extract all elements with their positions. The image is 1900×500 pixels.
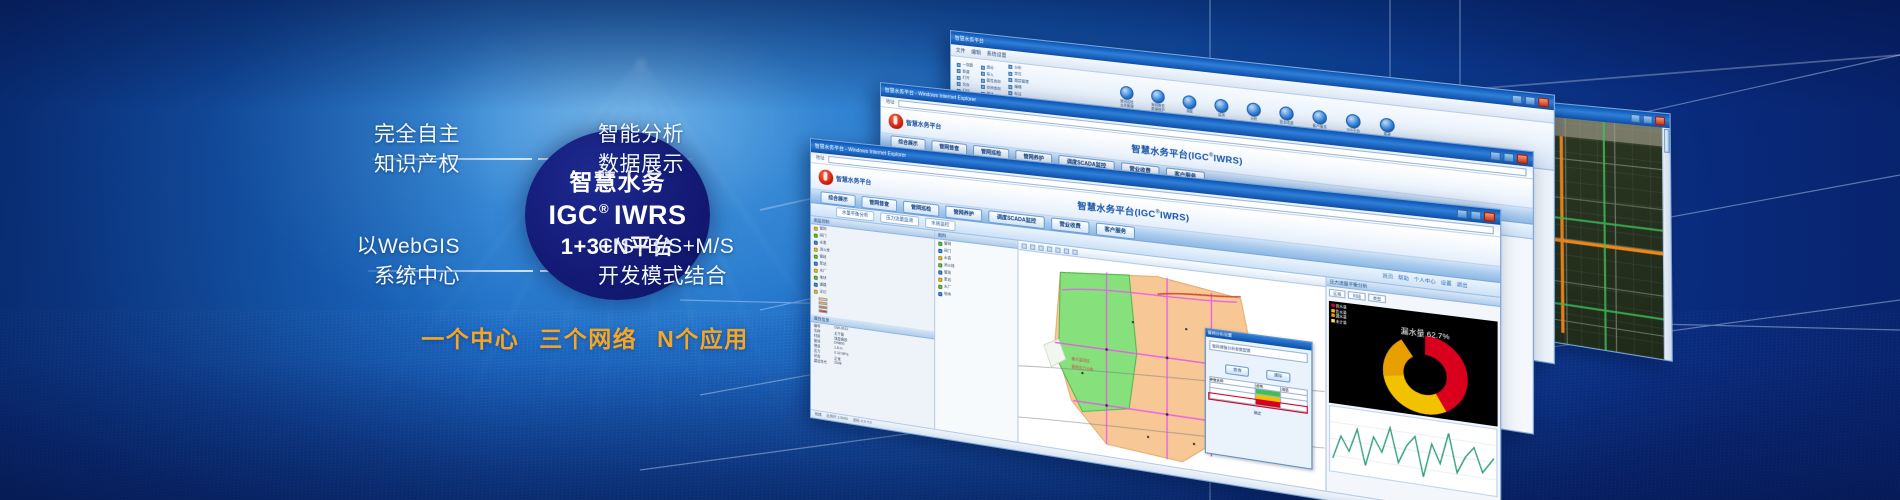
catalog-swatch-icon (938, 262, 942, 267)
minimize-icon[interactable] (1512, 94, 1523, 104)
tagline-part2: 三个网络 (539, 326, 637, 352)
catalog-panel[interactable]: 图例 管网阀门水表消火栓管段泵站水厂地块 (935, 231, 1019, 450)
module-icon (1183, 94, 1197, 109)
status-item[interactable]: 比例尺 1:5000 (826, 414, 848, 422)
ribbon-big-button[interactable]: 管网巡检 业务管理 (1116, 85, 1139, 109)
ribbon-big-button[interactable]: 调度 (1178, 94, 1201, 115)
maximize-icon[interactable] (1525, 95, 1536, 105)
layer-swatch-icon (814, 282, 818, 287)
spoke-label-line1: 以WebGIS (357, 235, 460, 258)
catalog-tree-item-label: 地块 (944, 291, 951, 297)
registered-mark-icon: ® (1209, 152, 1213, 159)
brand-igc: IGC (548, 201, 598, 231)
close-icon[interactable] (1655, 116, 1665, 126)
layer-swatch-icon (814, 233, 818, 237)
layer-swatch-icon (814, 289, 818, 294)
layer-tree-item-label: 水厂 (820, 268, 827, 274)
spoke-label-line1: C/S+B/S+M/S (598, 235, 734, 258)
module-icon (1247, 102, 1261, 117)
command-icon (981, 72, 985, 76)
map-tool-放大[interactable] (1022, 243, 1027, 249)
command-icon (957, 75, 961, 79)
ribbon-command-label: 分析 (1014, 65, 1021, 71)
menu-item[interactable]: 文件 (956, 47, 966, 55)
close-icon[interactable] (1517, 153, 1528, 163)
spoke-label-bottom-left: 以WebGIS 系统中心 (290, 232, 460, 292)
module-icon (1346, 113, 1361, 129)
subnav-item[interactable]: 水质监控 (925, 217, 955, 231)
command-icon (1009, 85, 1013, 90)
ribbon-command-label: 打开 (963, 75, 970, 81)
minimize-icon[interactable] (1630, 113, 1640, 123)
catalog-swatch-icon (938, 277, 942, 282)
legend-color-swatch (1331, 313, 1335, 317)
tagline-part1: 一个中心 (421, 326, 519, 352)
analytics-filter[interactable]: 类型 (1368, 293, 1386, 303)
window-controls[interactable] (1512, 94, 1549, 107)
utility-link[interactable]: 个人中心 (1414, 276, 1436, 285)
module-icon (1312, 109, 1326, 125)
module-icon (1380, 117, 1395, 133)
dialog-query-button[interactable]: 查询 (1225, 364, 1249, 377)
map-tool-全图[interactable] (1047, 246, 1052, 252)
map-tool-缩小[interactable] (1030, 244, 1035, 250)
attribute-value: 2008 (834, 361, 841, 367)
donut-legend-label: 未计量 (1336, 319, 1347, 325)
spoke-label-top-left: 完全自主 知识产权 (300, 120, 460, 180)
legend-color-swatch (1331, 318, 1335, 322)
spoke-label-line1: 智能分析 (598, 123, 684, 146)
ribbon-command-label: 另存 (963, 82, 970, 88)
analytics-filter[interactable]: 时段 (1348, 291, 1366, 301)
catalog-swatch-icon (938, 270, 942, 275)
catalog-tree-item-label: 管段 (944, 270, 951, 276)
map-tool-选择[interactable] (1056, 247, 1061, 253)
catalog-tree[interactable]: 管网阀门水表消火栓管段泵站水厂地块 (935, 239, 1018, 307)
window-controls[interactable] (1457, 208, 1495, 221)
app-title-suffix: IWRS) (1213, 152, 1242, 166)
layer-tree-item-label: 道路 (820, 282, 827, 288)
catalog-swatch-icon (938, 241, 942, 246)
brand-circle-line2: IGC®IWRS (548, 201, 686, 231)
catalog-swatch-icon (938, 255, 942, 260)
catalog-swatch-icon (938, 291, 942, 296)
legend-color-swatch (1331, 308, 1335, 312)
app-title-text: 智慧水务平台(IGC (1180, 40, 1257, 59)
catalog-tree-item-label: 水表 (944, 256, 951, 262)
logo-text: 智慧水务平台 (906, 118, 941, 131)
app-title-suffix: IWRS) (1262, 48, 1291, 62)
analytics-filter[interactable]: 区域 (1328, 289, 1345, 299)
command-icon (1009, 71, 1013, 76)
utility-link[interactable]: 退出 (1457, 281, 1468, 289)
donut-legend: 供水量售水量漏水量未计量 (1331, 303, 1347, 325)
command-icon (981, 78, 985, 82)
catalog-tree-item-label: 阀门 (944, 248, 951, 254)
maximize-icon[interactable] (1503, 152, 1514, 162)
ribbon-command-label: 空间查询 (987, 85, 1001, 92)
layer-swatch-icon (814, 268, 818, 273)
registered-mark-icon: ® (599, 202, 609, 216)
ribbon-command-label: 编辑 (1014, 85, 1021, 91)
address-label: 地址 (816, 155, 825, 162)
layer-tree-item-label: 水表 (820, 240, 827, 246)
spoke-label-line1: 完全自主 (374, 123, 460, 146)
concept-diagram: 完全自主 知识产权 以WebGIS 系统中心 智能分析 数据展示 C/S+B/S… (0, 0, 820, 500)
catalog-swatch-icon (938, 284, 942, 289)
catalog-swatch-icon (938, 248, 942, 253)
brand-iwrs: IWRS (614, 201, 687, 231)
ribbon-command-label: 属性查询 (987, 78, 1001, 85)
layer-tree-item-label: 地块 (820, 275, 827, 281)
company-logo-icon (819, 169, 834, 186)
hero-banner: 完全自主 知识产权 以WebGIS 系统中心 智能分析 数据展示 C/S+B/S… (0, 0, 1900, 500)
registered-mark-icon: ® (1257, 48, 1261, 55)
ribbon-command-label: 定位 (1014, 72, 1021, 78)
layer-tree-item-label: 管段 (820, 254, 827, 260)
catalog-tree-item-label: 水厂 (944, 284, 951, 290)
minimize-icon[interactable] (1457, 208, 1468, 218)
app-title-text: 智慧水务平台(IGC (1077, 200, 1155, 219)
layer-tree-item-label: 阀门 (820, 233, 827, 239)
analytics-panel: 压力流量平衡分析 区域时段类型 供水量售水量漏水量未计量 漏水量 62.7% (1325, 277, 1500, 500)
minimize-icon[interactable] (1490, 150, 1501, 160)
maximize-icon[interactable] (1470, 210, 1481, 220)
command-icon (981, 85, 985, 89)
window-title-text: 智慧水务平台 (955, 35, 984, 45)
menu-item[interactable]: 系统设置 (987, 50, 1007, 59)
app-title-text: 智慧水务平台(IGC (1131, 143, 1209, 162)
app-title-suffix: IWRS) (1160, 209, 1189, 223)
ribbon-command-label: 退出 (987, 65, 994, 71)
map-tool-平移[interactable] (1039, 245, 1044, 251)
command-icon (981, 65, 985, 69)
catalog-tree-item-label: 泵站 (944, 277, 951, 283)
spoke-label-line2: 系统中心 (290, 262, 460, 292)
analysis-dialog[interactable]: 管网分析设置 管网爆管分析参数配置 查询 清除 参数名称 颜色 (1204, 328, 1312, 470)
product-screenshot-stack: 管网定位 (780, 0, 1900, 500)
spoke-label-line2: 开发模式结合 (598, 262, 734, 292)
layer-tree-item-label: 注记 (820, 289, 827, 295)
menu-item[interactable]: 编辑 (971, 48, 981, 56)
tagline-part3: N个应用 (657, 326, 749, 352)
spoke-label-bottom-right: C/S+B/S+M/S 开发模式结合 (598, 232, 734, 292)
registered-mark-icon: ® (1156, 208, 1160, 215)
module-icon (1215, 98, 1229, 113)
ribbon-big-button-label: 调度 (1186, 109, 1193, 113)
layer-panel[interactable]: 图层控制 管网阀门水表消火栓管段泵站水厂地块道路注记 属性信息 编号GW-001… (811, 216, 935, 436)
layer-tree-item-label: 管网 (820, 226, 827, 232)
spoke-label-line2: 知识产权 (300, 150, 460, 180)
logo-text: 智慧水务平台 (836, 174, 871, 187)
layer-swatch-icon (814, 240, 818, 244)
ribbon-big-button[interactable]: 分析 (1242, 101, 1266, 122)
address-label: 地址 (886, 99, 895, 106)
layer-swatch-icon (814, 247, 818, 251)
module-icon (1279, 105, 1293, 121)
ribbon-big-button[interactable]: 监测 (1210, 97, 1234, 118)
map-tool-量距[interactable] (1064, 248, 1069, 254)
tagline: 一个中心 三个网络 N个应用 (355, 320, 815, 354)
close-icon[interactable] (1538, 97, 1549, 107)
map-canvas[interactable]: 重点监测区 管网压力分布 管网分析设置 管网爆管分析参数配置 查询 清除 (1019, 241, 1325, 498)
command-icon (957, 69, 961, 73)
command-icon (1009, 78, 1013, 83)
utility-link[interactable]: 设置 (1441, 280, 1452, 288)
utility-link[interactable]: 帮助 (1398, 275, 1409, 283)
company-logo-icon (889, 113, 904, 130)
layer-swatch-icon (814, 226, 818, 230)
spoke-label-line2: 数据展示 (598, 150, 684, 180)
ribbon-command-label: 导入 (987, 72, 994, 78)
dialog-body: 管网爆管分析参数配置 查询 清除 参数名称 颜色 阈值 (1205, 336, 1310, 426)
close-icon[interactable] (1484, 211, 1495, 221)
ribbon-command-label: 新建 (963, 69, 970, 75)
command-icon (1009, 65, 1013, 69)
layer-swatch-icon (814, 275, 818, 280)
window-controls[interactable] (1490, 150, 1528, 163)
catalog-tree-item-label: 管网 (944, 241, 951, 247)
spoke-label-top-right: 智能分析 数据展示 (598, 120, 684, 180)
ribbon-big-button[interactable]: 管网普查 数据维护 (1147, 88, 1170, 113)
maximize-icon[interactable] (1643, 114, 1653, 124)
status-item[interactable]: 坐标 X:0 Y:0 (853, 418, 872, 426)
map-vertical-scrollbar[interactable] (1662, 128, 1672, 361)
window-controls[interactable] (1630, 113, 1665, 125)
command-icon (957, 62, 961, 66)
utility-link[interactable]: 首页 (1382, 273, 1393, 281)
status-item[interactable]: 就绪 (815, 412, 822, 418)
layer-tree-item-label: 泵站 (820, 261, 827, 267)
layer-swatch-icon (814, 254, 818, 258)
legend-color-swatch (1331, 303, 1335, 307)
dialog-clear-button[interactable]: 清除 (1266, 370, 1290, 383)
ribbon-command-label: 一张图 (963, 62, 973, 68)
layer-swatch-icon (814, 261, 818, 265)
command-icon (957, 82, 961, 86)
map-tool-标注[interactable] (1073, 249, 1078, 255)
